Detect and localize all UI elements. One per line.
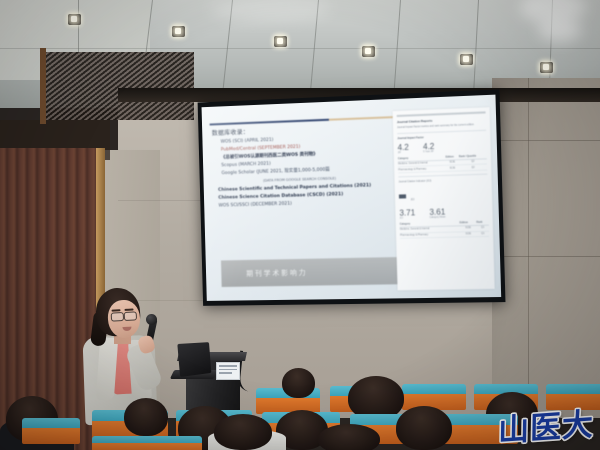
kpi-value: 4.2 [423, 141, 435, 151]
card-kpi-group-2: 3.71 JCI 3.61 Category Mean [399, 206, 488, 219]
seat [402, 384, 466, 410]
right-wall [492, 78, 600, 418]
card-section-2-label: Journal Citation Indicator (JCI) [399, 178, 488, 184]
eyeglasses-right-lens [124, 311, 137, 321]
card-table-1: Category Edition Rank / Quartile Medicin… [398, 153, 487, 174]
ceiling-seam [78, 0, 79, 52]
audience-head [318, 424, 380, 450]
kpi-label: JIF [398, 151, 409, 153]
slide-metrics-card: Journal Citation Reports Journal Impact … [393, 107, 495, 290]
mouth [122, 327, 131, 331]
ceiling-light-glow [210, 0, 330, 22]
card-section-1-label: Journal Impact Factor [397, 133, 486, 139]
card-table-2: Category Edition Rank Medicine, General … [400, 219, 489, 239]
card-divider [398, 174, 487, 178]
acoustic-grille-panel [46, 52, 194, 120]
ceiling-seam [393, 0, 401, 100]
ceiling-spotlight [540, 62, 553, 73]
cell: Pharmacology & Pharmacy [400, 231, 460, 238]
projection-screen: 数据库收录： WOS (SCI) (APRIL 2021) PubMed/Cen… [202, 95, 502, 301]
ceiling-spotlight [362, 46, 375, 57]
audience-head [396, 406, 452, 450]
cell: Q1 [477, 231, 489, 237]
watermark: 山医大 [498, 410, 594, 448]
kpi-label: Category Mean [430, 216, 446, 218]
kpi-value: 3.61 [429, 207, 445, 217]
card-description: Journal Impact Factor metrics and rank s… [397, 123, 486, 130]
kpi-value: 4.2 [397, 142, 408, 151]
cell: Q2 [459, 164, 487, 171]
eyebrow [111, 309, 120, 311]
seat [92, 436, 202, 450]
lecture-hall-photo: 数据库收录： WOS (SCI) (APRIL 2021) PubMed/Cen… [0, 0, 600, 450]
slide-heading: 数据库收录： [212, 127, 250, 137]
projection-screen-frame: 数据库收录： WOS (SCI) (APRIL 2021) PubMed/Cen… [198, 89, 506, 306]
eyeglasses-left-lens [111, 312, 124, 322]
slide-banner-label: 期刊学术影响力 [221, 267, 307, 278]
ceiling-spotlight [274, 36, 287, 47]
kpi: 3.71 JCI [399, 208, 415, 220]
seat [22, 418, 80, 444]
wall-seam [492, 140, 600, 141]
wall-seam [492, 256, 600, 257]
table-row: Pharmacology & Pharmacy SCIE Q1 [400, 231, 489, 239]
ceiling-spotlight [460, 54, 473, 65]
cell: SCIE [460, 231, 477, 237]
ceiling-spotlight [68, 14, 81, 25]
laptop-screen-lid [177, 342, 211, 377]
kpi-label: JCI [400, 217, 416, 219]
audience-head [124, 398, 168, 436]
slide-section-banner: 期刊学术影响力 [221, 257, 407, 287]
kpi: 4.2 5 Year JIF [423, 141, 435, 153]
ceiling-light-glow [538, 18, 582, 42]
slide-body-lines: WOS (SCI) (APRIL 2021) PubMed/Central (S… [212, 132, 390, 210]
cell: Pharmacology & Pharmacy [398, 166, 446, 173]
jci-chip [399, 194, 406, 198]
eyebrow [124, 308, 133, 310]
kpi-value: 3.71 [399, 208, 415, 217]
ceiling-spotlight [172, 26, 185, 37]
audience-head [214, 414, 272, 450]
presentation-slide: 数据库收录： WOS (SCI) (APRIL 2021) PubMed/Cen… [202, 95, 502, 301]
kpi: 3.61 Category Mean [429, 207, 445, 219]
microphone-head-icon [146, 314, 157, 325]
podium-sign [216, 362, 240, 380]
kpi: 4.2 JIF [397, 142, 409, 153]
cell: SCIE [446, 165, 460, 171]
jci-chip-label: JCI [411, 198, 415, 201]
audience-head [282, 368, 315, 398]
wall-seam [528, 78, 529, 418]
kpi-label: 5 Year JIF [423, 151, 434, 153]
card-kpi-group-1: 4.2 JIF 4.2 5 Year JIF [397, 140, 486, 154]
